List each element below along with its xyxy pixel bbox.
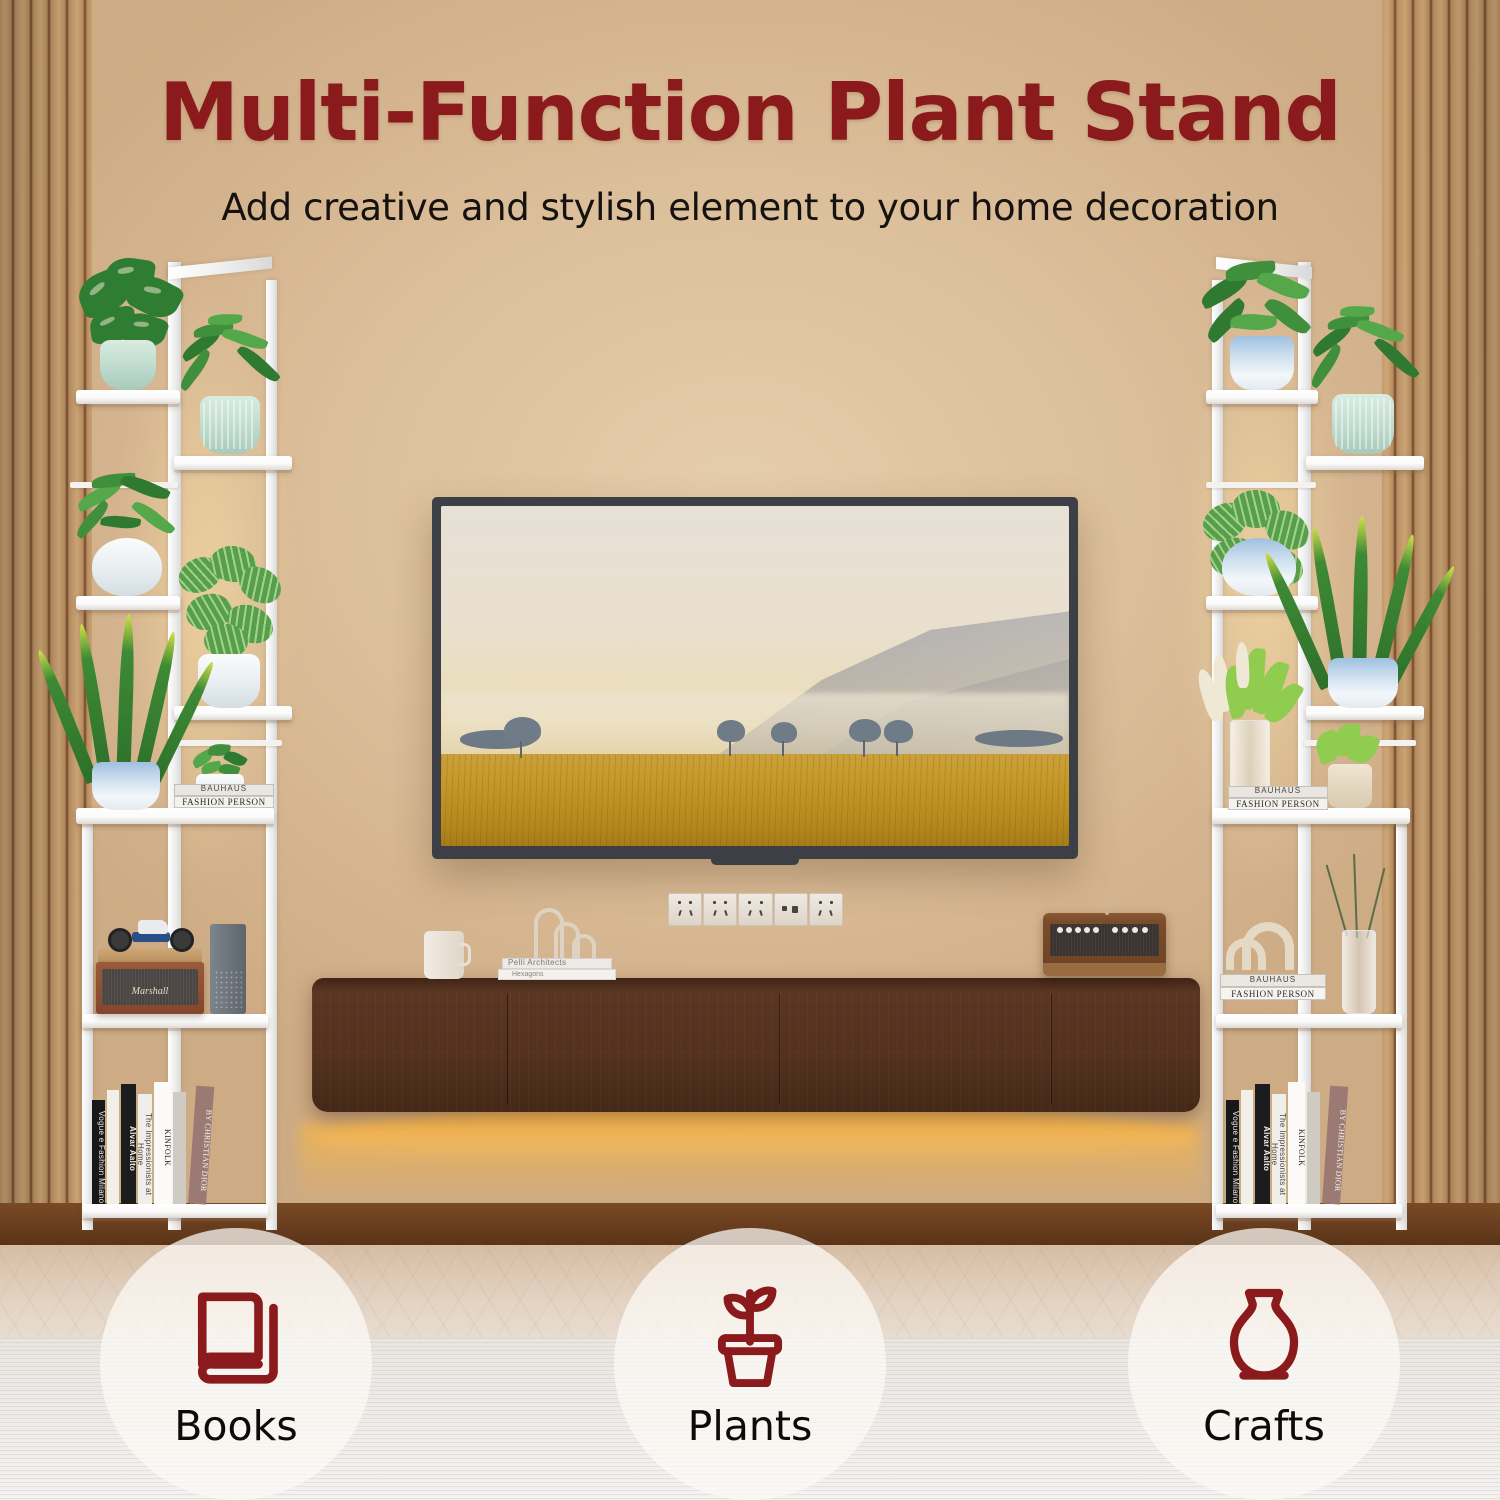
flat-book-stack: BAUHAUS FASHION PERSON bbox=[1228, 786, 1328, 810]
shelf-tier-1 bbox=[76, 390, 180, 404]
book-spine: Alvar Aalto bbox=[121, 1084, 136, 1204]
amplifier-knob-group-left[interactable] bbox=[1057, 927, 1099, 933]
console-led-underglow bbox=[318, 1108, 1194, 1170]
motorcycle-model bbox=[108, 912, 194, 952]
page-subtitle: Add creative and stylish element to your… bbox=[0, 186, 1500, 229]
book-spine: The Impressionists at Home bbox=[1272, 1094, 1286, 1204]
plant-stand-right: BAUHAUS FASHION PERSON BAUHAUS FASHION P… bbox=[1200, 262, 1430, 1230]
stand-post-left bbox=[1212, 280, 1223, 1230]
product-marketing-image: Pelli Architects Hexagons bbox=[0, 0, 1500, 1500]
tv-screen bbox=[441, 506, 1069, 846]
book-row: Vogue e Fashion Milano Alvar Aalto The I… bbox=[92, 1082, 206, 1204]
book-spine: Vogue e Fashion Milano bbox=[1226, 1100, 1239, 1204]
feature-label: Plants bbox=[688, 1402, 813, 1450]
wall-mounted-tv bbox=[432, 497, 1078, 859]
tv-image-tree bbox=[884, 720, 913, 742]
book-spine bbox=[1307, 1092, 1320, 1204]
shelf-tier-7 bbox=[82, 1204, 268, 1218]
tv-image-field bbox=[441, 754, 1069, 846]
feature-badge-row: Books Plants Crafts bbox=[0, 1228, 1500, 1500]
feature-label: Books bbox=[174, 1402, 297, 1450]
pot-blue-white bbox=[1328, 658, 1398, 708]
flat-book-title: BAUHAUS bbox=[1228, 786, 1328, 795]
arch-sculpture bbox=[534, 908, 600, 960]
shelf-tier-3 bbox=[76, 596, 180, 610]
pot-white-round bbox=[92, 538, 162, 596]
console-top-surface bbox=[312, 978, 1200, 992]
power-socket[interactable] bbox=[668, 893, 702, 926]
console-book-title-bottom: Hexagons bbox=[512, 971, 544, 978]
pot-mint bbox=[100, 340, 156, 390]
book-spine: The Impressionists at Home bbox=[138, 1094, 152, 1204]
book-spine bbox=[173, 1092, 186, 1204]
tv-console bbox=[312, 978, 1200, 1112]
console-book-title-top: Pelli Architects bbox=[508, 958, 566, 967]
switch-socket[interactable] bbox=[774, 893, 808, 926]
book-spine: BY CHRISTIAN DIOR bbox=[1322, 1086, 1348, 1205]
ceramic-mug bbox=[424, 931, 464, 979]
power-socket[interactable] bbox=[703, 893, 737, 926]
page-title: Multi-Function Plant Stand bbox=[0, 66, 1500, 159]
amplifier-antenna bbox=[1105, 905, 1109, 915]
book-spine: KINFOLK bbox=[154, 1082, 171, 1204]
power-socket[interactable] bbox=[809, 893, 843, 926]
pot-mint-ribbed bbox=[200, 396, 260, 454]
shelf-tier-5 bbox=[1212, 808, 1410, 824]
flat-book-title: BAUHAUS bbox=[174, 784, 274, 793]
book-spine: KINFOLK bbox=[1288, 1082, 1305, 1204]
flat-book-subtitle: FASHION PERSON bbox=[1228, 799, 1328, 809]
feature-label: Crafts bbox=[1203, 1402, 1325, 1450]
console-door[interactable] bbox=[780, 994, 1052, 1104]
book-icon bbox=[176, 1278, 296, 1398]
vase-icon bbox=[1204, 1278, 1324, 1398]
pot-ceramic bbox=[1328, 764, 1372, 808]
book-spine: BY CHRISTIAN DIOR bbox=[188, 1086, 214, 1205]
stand-rail bbox=[1206, 482, 1316, 488]
console-book-stack: Pelli Architects Hexagons bbox=[498, 958, 616, 980]
amplifier-knob-group-right[interactable] bbox=[1112, 927, 1148, 933]
shelf-tier-1 bbox=[1206, 390, 1318, 404]
feature-badge-plants[interactable]: Plants bbox=[614, 1228, 886, 1500]
book-row: Vogue e Fashion Milano Alvar Aalto The I… bbox=[1226, 1082, 1340, 1204]
book-spine: Vogue e Fashion Milano bbox=[92, 1100, 105, 1204]
pot-mint-ribbed bbox=[1332, 394, 1394, 454]
potted-plant-icon bbox=[690, 1278, 810, 1398]
flat-book-title: BAUHAUS bbox=[1220, 975, 1326, 984]
speaker-brand-label: Marshall bbox=[96, 986, 204, 997]
flat-book-stack: BAUHAUS FASHION PERSON bbox=[174, 784, 274, 808]
feature-badge-books[interactable]: Books bbox=[100, 1228, 372, 1500]
book-spine: Alvar Aalto bbox=[1255, 1084, 1270, 1204]
marshall-speaker: Marshall bbox=[96, 962, 204, 1014]
shelf-tier-3 bbox=[1206, 596, 1318, 610]
tv-image-tree-trunk bbox=[729, 741, 731, 756]
shelf-tier-6 bbox=[82, 1014, 268, 1028]
amplifier-base bbox=[1043, 963, 1166, 976]
tv-image-tree bbox=[717, 720, 745, 742]
shelf-tier-5 bbox=[76, 808, 274, 824]
tv-mount bbox=[711, 858, 799, 865]
flat-book-subtitle: FASHION PERSON bbox=[174, 797, 274, 807]
pot-blue-white bbox=[92, 762, 160, 810]
console-door[interactable] bbox=[508, 994, 780, 1104]
shelf-tier-6 bbox=[1216, 1014, 1402, 1028]
book-spine bbox=[1241, 1090, 1253, 1204]
feature-badge-crafts[interactable]: Crafts bbox=[1128, 1228, 1400, 1500]
console-door[interactable] bbox=[1052, 994, 1200, 1104]
shelf-tier-4 bbox=[1306, 706, 1424, 720]
console-door[interactable] bbox=[312, 994, 508, 1104]
flat-book-stack: BAUHAUS FASHION PERSON bbox=[1220, 970, 1326, 1000]
shelf-tier-2 bbox=[174, 456, 292, 470]
tv-image-tree bbox=[849, 719, 880, 743]
book-spine bbox=[107, 1090, 119, 1204]
stand-post-right bbox=[266, 280, 277, 1230]
tv-image-tree-trunk bbox=[520, 741, 522, 758]
flat-book-subtitle: FASHION PERSON bbox=[1220, 989, 1326, 999]
shelf-tier-7 bbox=[1216, 1204, 1402, 1218]
tv-image-tree-trunk bbox=[863, 740, 865, 757]
tv-image-tree-trunk bbox=[896, 741, 898, 757]
tv-image-tree bbox=[504, 717, 542, 744]
pot-blue-white bbox=[1230, 336, 1294, 390]
shelf-tier-2 bbox=[1306, 456, 1424, 470]
tv-image-tree-trunk bbox=[782, 741, 784, 756]
wall-outlet-panel[interactable] bbox=[668, 893, 843, 926]
vintage-amplifier bbox=[1043, 913, 1166, 976]
air-purifier bbox=[210, 924, 246, 1014]
power-socket[interactable] bbox=[738, 893, 772, 926]
plant-stand-left: BAUHAUS FASHION PERSON Marshall Vogue e … bbox=[70, 262, 300, 1230]
